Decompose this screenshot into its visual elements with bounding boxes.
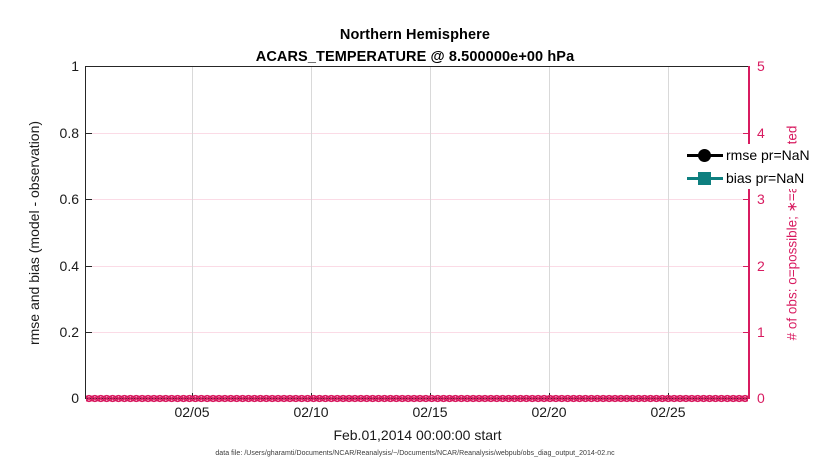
x-tick-label: 02/15 (412, 404, 447, 420)
gridline-vertical (549, 66, 550, 399)
gridline-horizontal (85, 133, 750, 134)
gridline-horizontal (85, 332, 750, 333)
y-tick-right (743, 266, 750, 267)
y-tick-label-left: 0.6 (60, 191, 79, 207)
gridline-vertical (668, 66, 669, 399)
plot-axes: 0 0.2 0.4 0.6 0.8 1 0 1 2 3 4 5 02/05 02… (85, 66, 750, 399)
legend-label-rmse: rmse pr=NaN (726, 147, 810, 163)
y-tick-right (743, 133, 750, 134)
axis-spine-left (85, 66, 86, 399)
axis-spine-top (85, 66, 750, 67)
x-tick-label: 02/05 (174, 404, 209, 420)
x-tick-label: 02/10 (293, 404, 328, 420)
obs-count-marker-band (86, 392, 748, 405)
gridline-horizontal (85, 266, 750, 267)
y-tick-left (85, 133, 92, 134)
y-tick-label-right: 5 (757, 58, 765, 74)
y-axis-label-left-text: rmse and bias (model - observation) (26, 120, 42, 344)
y-tick-label-right: 4 (757, 125, 765, 141)
y-tick-label-left: 0.2 (60, 324, 79, 340)
y-tick-right (743, 332, 750, 333)
square-marker-icon (698, 172, 711, 185)
y-tick-label-left: 0 (71, 390, 79, 406)
chart-title-line1: Northern Hemisphere (0, 26, 830, 46)
legend-item-rmse: rmse pr=NaN (687, 146, 810, 164)
data-file-footer: data file: /Users/gharamti/Documents/NCA… (0, 450, 830, 457)
chart-legend: rmse pr=NaN bias pr=NaN (683, 144, 814, 189)
y-axis-label-left: rmse and bias (model - observation) (24, 66, 44, 399)
legend-item-bias: bias pr=NaN (687, 169, 810, 187)
obs-marker-series (86, 392, 748, 405)
chart-title: Northern Hemisphere ACARS_TEMPERATURE @ … (0, 26, 830, 67)
gridline-vertical (430, 66, 431, 399)
gridline-horizontal (85, 199, 750, 200)
y-axis-label-right: # of obs: o=possible; ∗=assimilated (782, 66, 802, 399)
legend-label-bias: bias pr=NaN (726, 170, 804, 186)
y-tick-left (85, 66, 92, 67)
y-tick-label-left: 1 (71, 58, 79, 74)
chart-title-line2: ACARS_TEMPERATURE @ 8.500000e+00 hPa (0, 48, 830, 68)
y-tick-label-right: 3 (757, 191, 765, 207)
gridline-vertical (311, 66, 312, 399)
rmse-marker-sample (687, 146, 723, 164)
axis-spine-right (748, 66, 750, 399)
x-tick-label: 02/20 (531, 404, 566, 420)
gridline-vertical (192, 66, 193, 399)
x-tick-label: 02/25 (650, 404, 685, 420)
y-tick-label-left: 0.8 (60, 125, 79, 141)
circle-marker-icon (698, 149, 711, 162)
bias-marker-sample (687, 169, 723, 187)
y-tick-right (743, 199, 750, 200)
y-tick-label-right: 0 (757, 390, 765, 406)
plot-figure: Northern Hemisphere ACARS_TEMPERATURE @ … (0, 0, 830, 470)
y-tick-left (85, 266, 92, 267)
y-tick-label-left: 0.4 (60, 258, 79, 274)
y-tick-left (85, 332, 92, 333)
y-tick-left (85, 199, 92, 200)
y-tick-label-right: 1 (757, 324, 765, 340)
y-tick-label-right: 2 (757, 258, 765, 274)
x-axis-label: Feb.01,2014 00:00:00 start (85, 427, 750, 443)
